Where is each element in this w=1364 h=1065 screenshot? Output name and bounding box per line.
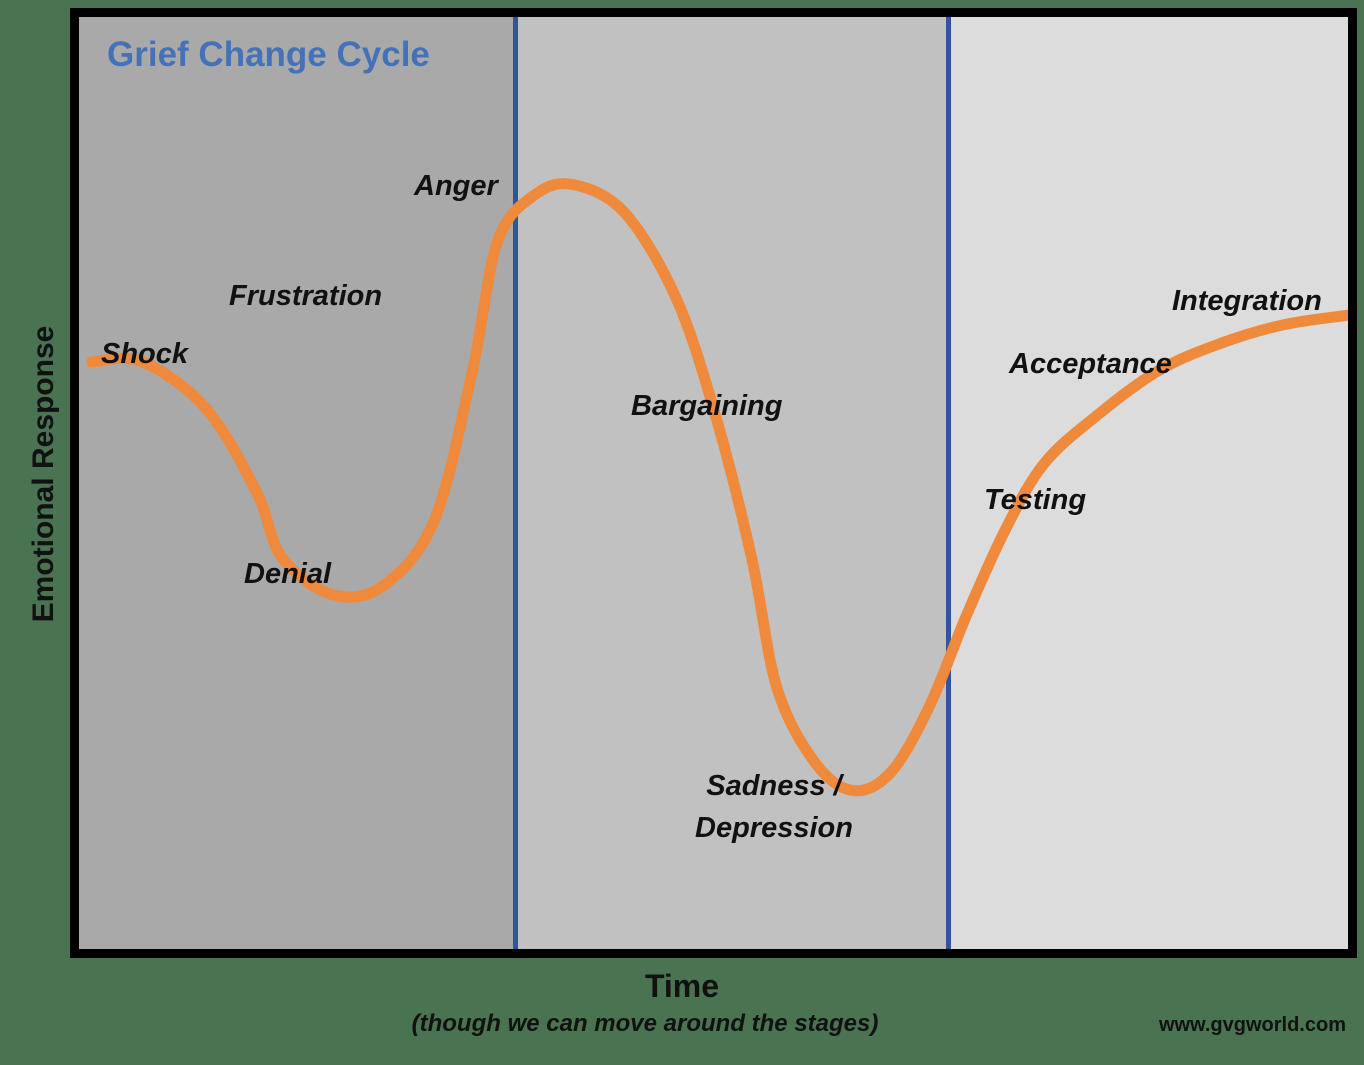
stage-label-frustration: Frustration xyxy=(229,275,382,317)
stage-label-bargaining: Bargaining xyxy=(631,385,782,427)
site-url: www.gvgworld.com xyxy=(1159,1014,1346,1037)
stage-label-acceptance: Acceptance xyxy=(1009,343,1172,385)
x-axis-label: Time xyxy=(0,968,1364,1005)
x-axis-note: (though we can move around the stages) xyxy=(0,1010,1290,1038)
y-axis-label: Emotional Response xyxy=(27,264,61,684)
stage-label-denial: Denial xyxy=(244,553,331,595)
stage-label-anger: Anger xyxy=(414,165,498,207)
grief-change-cycle-figure: Emotional Response Grief Change Cycle Sh… xyxy=(0,0,1364,1065)
stage-label-testing: Testing xyxy=(984,479,1086,521)
page-title: Grief Change Cycle xyxy=(107,35,430,75)
chart-plot-area: Grief Change Cycle Shock Frustration Ang… xyxy=(70,8,1357,958)
stage-label-shock: Shock xyxy=(101,333,188,375)
stage-label-integration: Integration xyxy=(1172,280,1322,322)
stage-label-sadness-depression: Sadness / Depression xyxy=(664,765,884,849)
